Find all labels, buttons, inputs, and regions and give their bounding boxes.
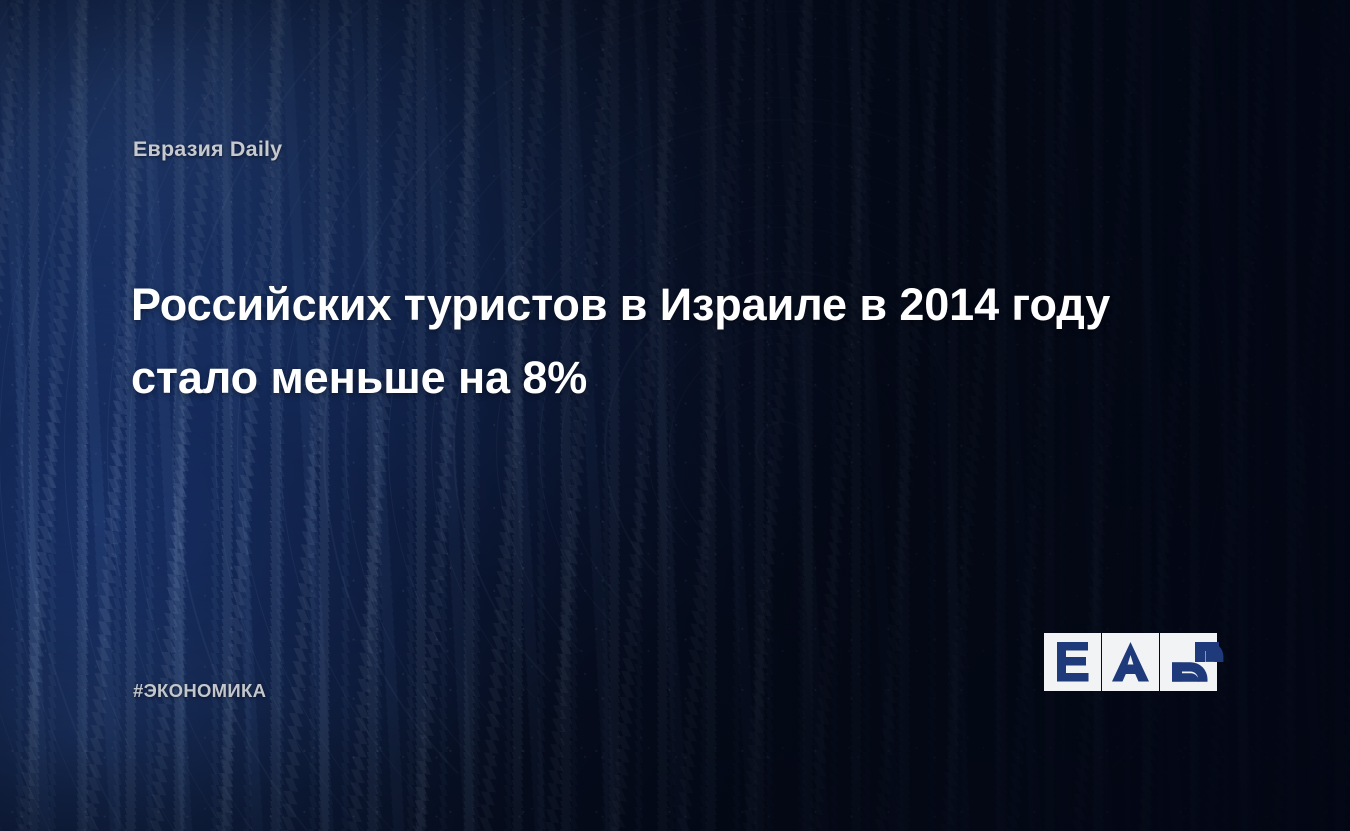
ead-logo (1044, 633, 1224, 691)
card-content: Евразия Daily Российских туристов в Изра… (0, 0, 1350, 831)
news-share-card: Евразия Daily Российских туристов в Изра… (0, 0, 1350, 831)
logo-letter-d-group (1160, 633, 1224, 691)
category-hashtag: #ЭКОНОМИКА (133, 680, 266, 702)
brand-name: Евразия Daily (133, 137, 282, 162)
logo-tile-a (1102, 633, 1159, 691)
logo-tile-e (1044, 633, 1101, 691)
page-title: Российских туристов в Израиле в 2014 год… (131, 268, 1221, 415)
logo-letter-e-icon (1044, 633, 1101, 691)
logo-letter-a-icon (1102, 633, 1159, 691)
logo-letter-d-icon (1160, 633, 1224, 691)
